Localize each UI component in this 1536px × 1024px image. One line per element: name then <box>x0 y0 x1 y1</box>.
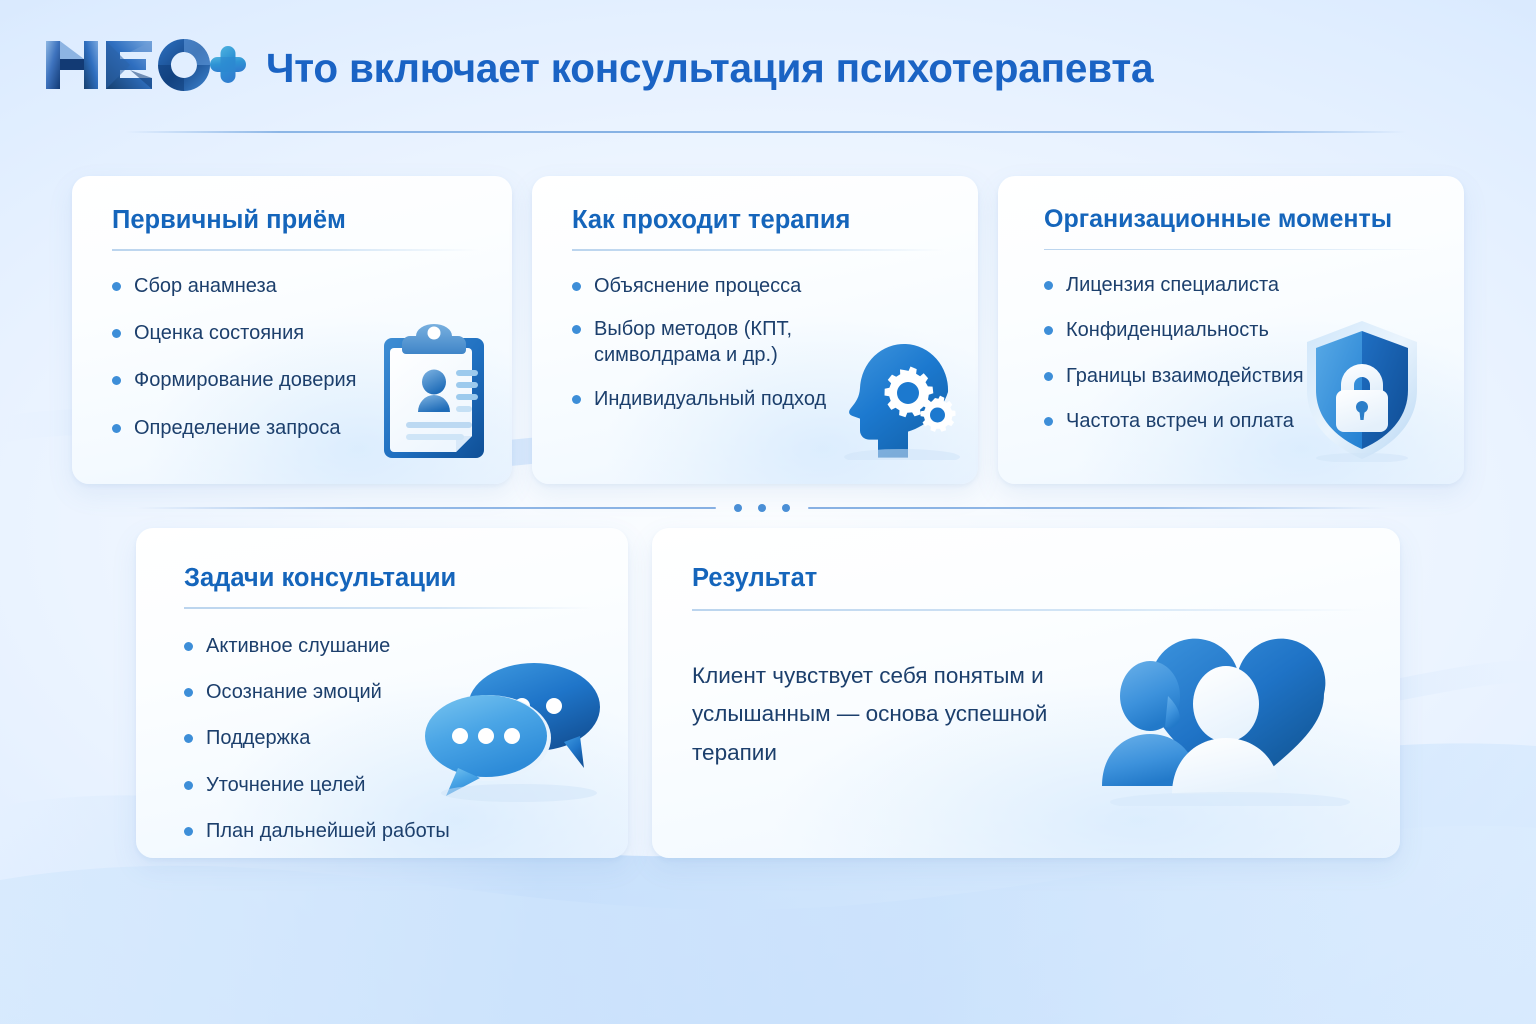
page-header: Что включает консультация психотерапевта <box>0 30 1536 140</box>
list-item-label: Конфиденциальность <box>1066 317 1269 343</box>
list-item-label: Частота встреч и оплата <box>1066 408 1294 434</box>
list-item: Границы взаимодействия <box>1044 363 1404 389</box>
card-how-therapy-goes[interactable]: Как проходит терапия Объяснение процесса… <box>532 176 978 484</box>
bullet-dot-icon <box>184 642 193 651</box>
list-item-label: Индивидуальный подход <box>594 386 826 412</box>
card-organizational[interactable]: Организационные моменты Лицензия специал… <box>998 176 1464 484</box>
bullet-list-organizational: Лицензия специалиста Конфиденциальность … <box>1044 272 1430 435</box>
bullet-dot-icon <box>184 781 193 790</box>
card-primary-intake[interactable]: Первичный приём Сбор анамнеза Оценка сос… <box>72 176 512 484</box>
divider-line-left <box>136 507 716 509</box>
list-item-label: Оценка состояния <box>134 320 304 346</box>
section-divider <box>136 501 1388 515</box>
neo-plus-logo[interactable] <box>42 34 248 96</box>
card-title-primary-intake: Первичный приём <box>112 206 478 234</box>
list-item: Индивидуальный подход <box>572 386 872 412</box>
list-item-label: Определение запроса <box>134 415 341 441</box>
bullet-dot-icon <box>1044 326 1053 335</box>
list-item: Оценка состояния <box>112 320 442 346</box>
bullet-dot-icon <box>1044 281 1053 290</box>
list-item-label: Поддержка <box>206 725 310 751</box>
list-item: Объяснение процесса <box>572 273 872 299</box>
bullet-dot-icon <box>112 376 121 385</box>
card-title-divider <box>112 249 478 251</box>
divider-dot-icon <box>758 504 766 512</box>
card-title-organizational: Организационные моменты <box>1044 206 1430 234</box>
card-consultation-tasks[interactable]: Задачи консультации Активное слушание Ос… <box>136 528 628 858</box>
bullet-list-how-therapy-goes: Объяснение процесса Выбор методов (КПТ, … <box>572 273 944 413</box>
bullet-dot-icon <box>572 395 581 404</box>
list-item-label: Границы взаимодействия <box>1066 363 1304 389</box>
list-item: Поддержка <box>184 725 514 751</box>
bullet-dot-icon <box>184 734 193 743</box>
header-divider <box>125 131 1406 133</box>
bullet-dot-icon <box>1044 372 1053 381</box>
list-item-label: Объяснение процесса <box>594 273 801 299</box>
list-item: Лицензия специалиста <box>1044 272 1404 298</box>
divider-dot-icon <box>782 504 790 512</box>
list-item-label: Активное слушание <box>206 633 390 659</box>
card-title-divider <box>1044 249 1430 251</box>
card-title-how-therapy-goes: Как проходит терапия <box>572 206 944 234</box>
page-title: Что включает консультация психотерапевта <box>266 48 1153 89</box>
bullet-list-consultation-tasks: Активное слушание Осознание эмоций Подде… <box>184 633 594 845</box>
divider-dot-icon <box>734 504 742 512</box>
list-item: Осознание эмоций <box>184 679 514 705</box>
list-item: Активное слушание <box>184 633 514 659</box>
result-body-text: Клиент чувствует себя понятым и услышанн… <box>692 657 1112 773</box>
list-item: План дальнейшей работы <box>184 818 514 844</box>
bullet-dot-icon <box>184 827 193 836</box>
bullet-dot-icon <box>572 325 581 334</box>
list-item-label: Лицензия специалиста <box>1066 272 1279 298</box>
card-title-divider <box>692 609 1366 611</box>
bullet-dot-icon <box>112 329 121 338</box>
list-item: Формирование доверия <box>112 367 442 393</box>
list-item-label: Сбор анамнеза <box>134 273 277 299</box>
list-item: Конфиденциальность <box>1044 317 1404 343</box>
list-item-label: Выбор методов (КПТ, символдрама и др.) <box>594 316 872 369</box>
list-item-label: Уточнение целей <box>206 772 365 798</box>
list-item: Частота встреч и оплата <box>1044 408 1404 434</box>
heart-people-icon <box>1090 634 1352 806</box>
list-item: Уточнение целей <box>184 772 514 798</box>
bullet-dot-icon <box>184 688 193 697</box>
card-title-divider <box>572 249 944 251</box>
card-title-divider <box>184 607 594 609</box>
list-item: Определение запроса <box>112 415 442 441</box>
bullet-dot-icon <box>1044 417 1053 426</box>
card-title-result: Результат <box>692 564 1366 592</box>
divider-dots <box>716 504 808 512</box>
divider-line-right <box>808 507 1388 509</box>
cards-row-top: Первичный приём Сбор анамнеза Оценка сос… <box>0 176 1536 484</box>
card-title-consultation-tasks: Задачи консультации <box>184 564 594 592</box>
bullet-dot-icon <box>112 282 121 291</box>
bullet-dot-icon <box>112 424 121 433</box>
card-result[interactable]: Результат Клиент чувствует себя понятым … <box>652 528 1400 858</box>
list-item-label: Формирование доверия <box>134 367 356 393</box>
list-item-label: План дальнейшей работы <box>206 818 450 844</box>
bullet-dot-icon <box>572 282 581 291</box>
list-item-label: Осознание эмоций <box>206 679 382 705</box>
list-item: Сбор анамнеза <box>112 273 442 299</box>
list-item: Выбор методов (КПТ, символдрама и др.) <box>572 316 872 369</box>
cards-row-bottom: Задачи консультации Активное слушание Ос… <box>0 528 1536 858</box>
bullet-list-primary-intake: Сбор анамнеза Оценка состояния Формирова… <box>112 273 478 442</box>
